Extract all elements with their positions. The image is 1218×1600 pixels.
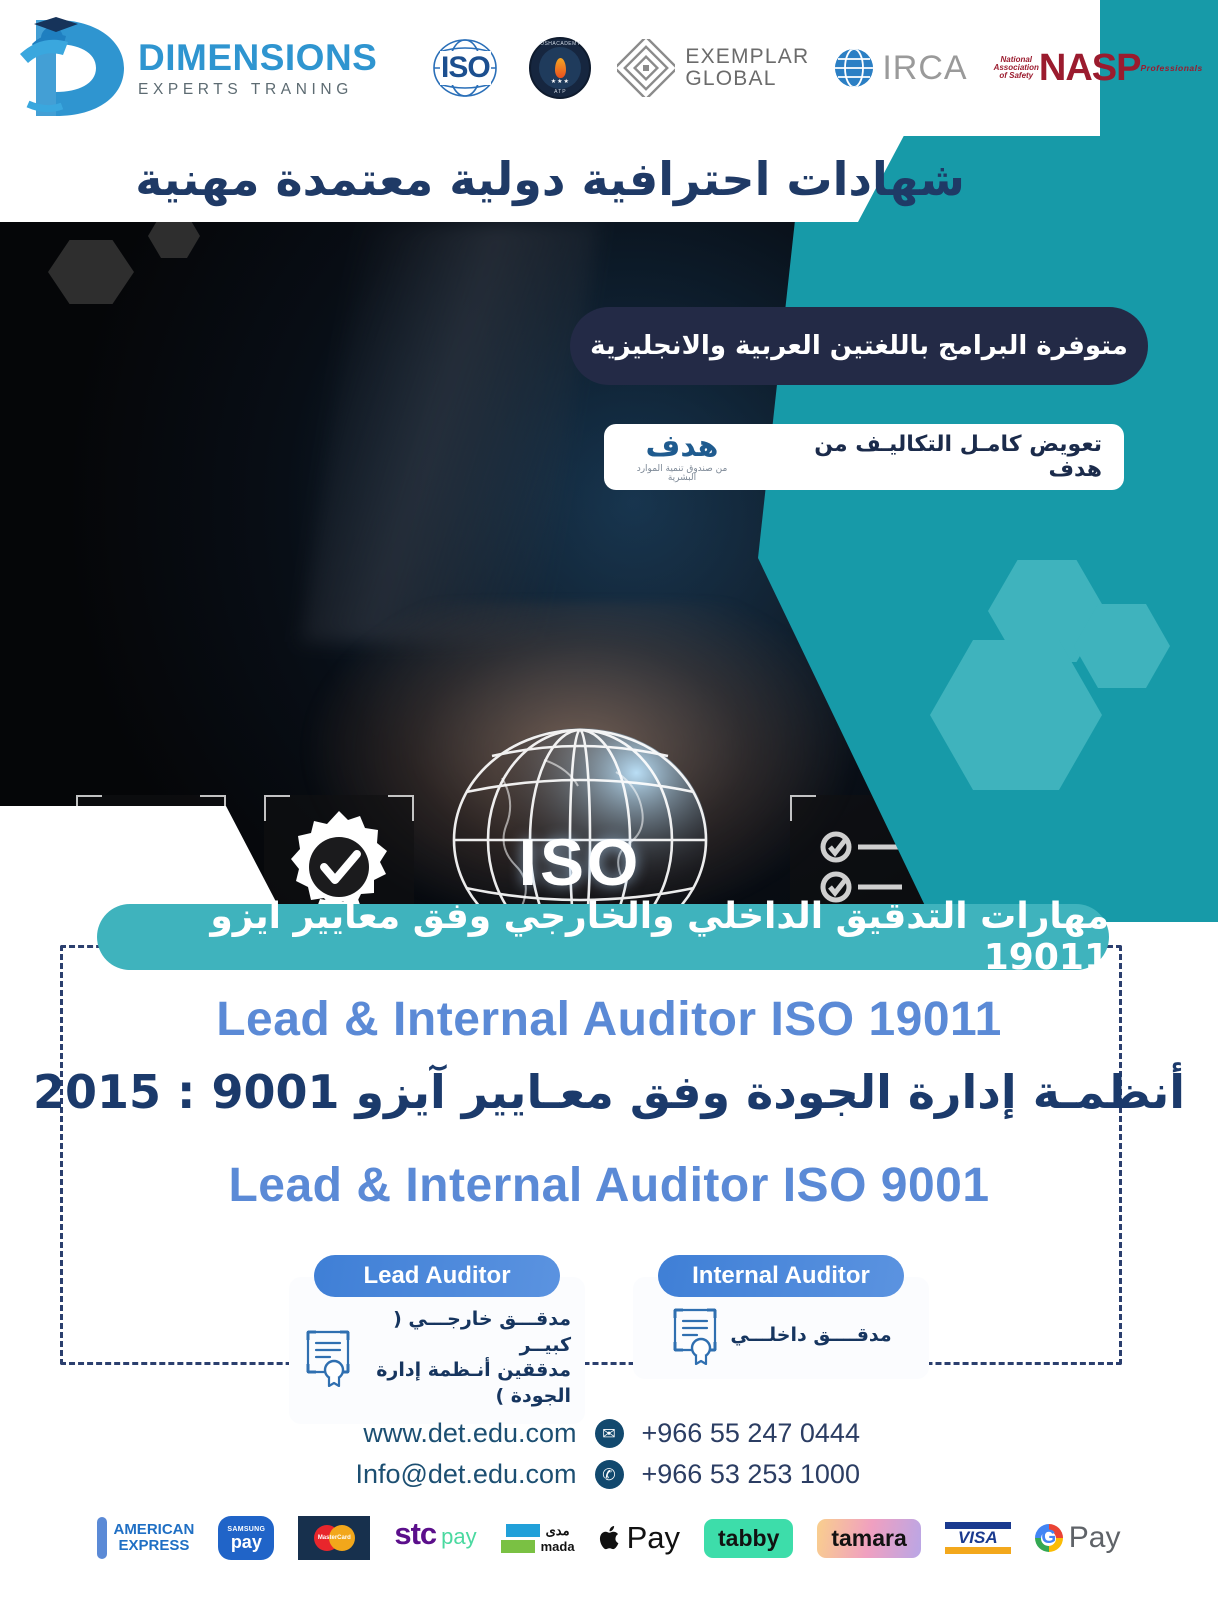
- mastercard-label: MasterCard: [318, 1535, 351, 1541]
- exemplar-wordmark: EXEMPLAR GLOBAL: [685, 46, 809, 90]
- visa-logo: VISA: [945, 1522, 1011, 1555]
- frame-bracket-tl: [790, 795, 816, 821]
- payment-mada: مدى mada: [501, 1516, 575, 1560]
- payment-samsung-pay: SAMSUNG pay: [218, 1516, 274, 1560]
- graduate-person-d-logo-icon: [12, 16, 130, 120]
- stc-wordmark: stc: [394, 1516, 436, 1552]
- hadaf-logo-word: هدف: [646, 429, 719, 464]
- accreditation-logos: ISO OSHACADEMY ★★★ ATP: [427, 37, 1105, 99]
- visa-wordmark: VISA: [945, 1529, 1011, 1548]
- flame-icon: [555, 58, 566, 78]
- internal-auditor-pill: Internal Auditor: [658, 1255, 904, 1297]
- osha-bottom-label: ATP: [554, 89, 566, 95]
- top-bar: DIMENSIONS EXPERTS TRANING ISO: [0, 0, 1218, 222]
- course-title-en-19011: Lead & Internal Auditor ISO 19011: [0, 992, 1218, 1047]
- mada-row-latin: mada: [501, 1540, 575, 1553]
- brand-name: DIMENSIONS: [138, 39, 377, 76]
- hadaf-logo-subtitle: من صندوق تنمية الموارد البشرية: [622, 465, 742, 483]
- arabic-header-title: شهادات احترافية دولية معتمدة مهنية: [0, 136, 1100, 222]
- osha-academy-logo: OSHACADEMY ★★★ ATP: [529, 37, 591, 99]
- frame-bracket-tl: [264, 795, 290, 821]
- hadaf-funding-badge: تعويض كامـل التكاليـف من هدف هدف من صندو…: [604, 424, 1124, 490]
- phone-icon: ✆: [595, 1460, 624, 1489]
- apple-pay-label: Pay: [627, 1520, 680, 1556]
- course-title-ar-9001: أنظمـة إدارة الجودة وفق معـايير آيزو 900…: [0, 1065, 1218, 1119]
- certificate-icon: [670, 1307, 720, 1365]
- exemplar-global-logo: EXEMPLAR GLOBAL: [617, 39, 809, 97]
- irca-logo: IRCA: [835, 49, 967, 88]
- hadaf-badge-text: تعويض كامـل التكاليـف من هدف: [758, 432, 1102, 482]
- poster-root: ISO: [0, 0, 1218, 1600]
- exemplar-line-1: EXEMPLAR: [685, 46, 809, 68]
- google-pay-label: Pay: [1069, 1521, 1121, 1555]
- logos-row: DIMENSIONS EXPERTS TRANING ISO: [0, 0, 1100, 136]
- amex-bar-icon: [97, 1517, 107, 1559]
- irca-label: IRCA: [882, 49, 967, 88]
- iso-globe-graphic: ISO: [440, 720, 720, 922]
- payment-stc-pay: stc pay: [394, 1516, 476, 1560]
- visa-bottom-bar: [945, 1547, 1011, 1554]
- internal-auditor-description: مدقــــق داخلـــي: [730, 1323, 891, 1349]
- main-content: مهارات التدقيق الداخلي والخارجي وفق معاي…: [0, 900, 1218, 1460]
- hadaf-logo: هدف من صندوق تنمية الموارد البشرية: [622, 432, 742, 483]
- nasp-wordmark: NASP: [1039, 49, 1141, 87]
- payment-tabby: tabby: [704, 1516, 793, 1560]
- payment-american-express: AMERICAN EXPRESS: [97, 1516, 194, 1560]
- brand-logo[interactable]: DIMENSIONS EXPERTS TRANING: [12, 16, 377, 120]
- nasp-top-text: National Association of Safety: [994, 56, 1039, 80]
- frame-bracket-tr: [388, 795, 414, 821]
- mastercard-logo: MasterCard: [298, 1516, 370, 1560]
- certificate-icon: [303, 1329, 353, 1387]
- apple-icon: [599, 1524, 623, 1552]
- nasp-logo: National Association of Safety NASP Prof…: [994, 49, 1106, 87]
- lead-auditor-body: مدقـــق خارجـــي ( كبيــر مدققين أنـظمة …: [289, 1277, 585, 1424]
- payment-google-pay: G Pay: [1035, 1516, 1121, 1560]
- samsung-line-2: pay: [231, 1533, 262, 1551]
- exemplar-diamond-icon: [617, 39, 675, 97]
- email-link[interactable]: Info@det.edu.com: [341, 1459, 577, 1490]
- course-title-en-9001: Lead & Internal Auditor ISO 9001: [0, 1158, 1218, 1213]
- mada-row-arabic: مدى: [506, 1524, 570, 1537]
- website-link[interactable]: www.det.edu.com: [341, 1418, 577, 1449]
- mada-blue-swatch: [506, 1524, 540, 1537]
- amex-wordmark: AMERICAN EXPRESS: [113, 1522, 194, 1554]
- brand-tagline: EXPERTS TRANING: [138, 82, 377, 98]
- payment-tamara: tamara: [817, 1516, 920, 1560]
- amex-line-1: AMERICAN: [113, 1522, 194, 1538]
- payment-apple-pay: Pay: [599, 1516, 680, 1560]
- payment-visa: VISA: [945, 1516, 1011, 1560]
- course-skills-banner: مهارات التدقيق الداخلي والخارجي وفق معاي…: [97, 904, 1109, 970]
- contact-row-email: Info@det.edu.com ✆ +966 53 253 1000: [0, 1459, 1218, 1490]
- nasp-bottom-text: Professionals: [1141, 64, 1203, 73]
- language-availability-badge: متوفرة البرامج باللغتين العربية والانجلي…: [570, 307, 1148, 385]
- phone-number-2[interactable]: +966 53 253 1000: [642, 1459, 878, 1490]
- iso-label: ISO: [440, 51, 491, 85]
- contact-row-website: www.det.edu.com ✉ +966 55 247 0444: [0, 1418, 1218, 1449]
- google-g-icon: G: [1035, 1524, 1063, 1552]
- iso-logo: ISO: [427, 37, 503, 99]
- lead-auditor-description: مدقـــق خارجـــي ( كبيــر مدققين أنـظمة …: [363, 1307, 571, 1410]
- amex-line-2: EXPRESS: [113, 1538, 194, 1554]
- mada-latin-label: mada: [541, 1540, 575, 1553]
- osha-stars: ★★★: [551, 78, 570, 85]
- tamara-wordmark: tamara: [817, 1519, 920, 1558]
- lead-auditor-pill: Lead Auditor: [314, 1255, 560, 1297]
- google-g-letter: G: [1041, 1527, 1056, 1549]
- mada-arabic-label: مدى: [546, 1524, 570, 1537]
- contact-section: www.det.edu.com ✉ +966 55 247 0444 Info@…: [0, 1418, 1218, 1500]
- auditor-card-lead[interactable]: Lead Auditor مدقـــق خارجـــي ( كبيــر م…: [289, 1255, 585, 1424]
- samsung-pay-logo: SAMSUNG pay: [218, 1516, 274, 1560]
- phone-number-1[interactable]: +966 55 247 0444: [642, 1418, 878, 1449]
- payment-mastercard: MasterCard: [298, 1516, 370, 1560]
- envelope-icon: ✉: [595, 1419, 624, 1448]
- iso-globe-label: ISO: [440, 824, 720, 900]
- stc-pay-label: pay: [441, 1524, 476, 1550]
- exemplar-line-2: GLOBAL: [685, 68, 809, 90]
- irca-globe-icon: [835, 49, 873, 87]
- auditor-card-internal[interactable]: Internal Auditor مدقــــق داخلـــي: [633, 1255, 929, 1424]
- payment-methods-row: AMERICAN EXPRESS SAMSUNG pay MasterCard …: [0, 1508, 1218, 1568]
- auditor-cards-row: Lead Auditor مدقـــق خارجـــي ( كبيــر م…: [0, 1255, 1218, 1424]
- tabby-wordmark: tabby: [704, 1519, 793, 1558]
- mada-green-swatch: [501, 1540, 535, 1553]
- brand-text: DIMENSIONS EXPERTS TRANING: [138, 39, 377, 98]
